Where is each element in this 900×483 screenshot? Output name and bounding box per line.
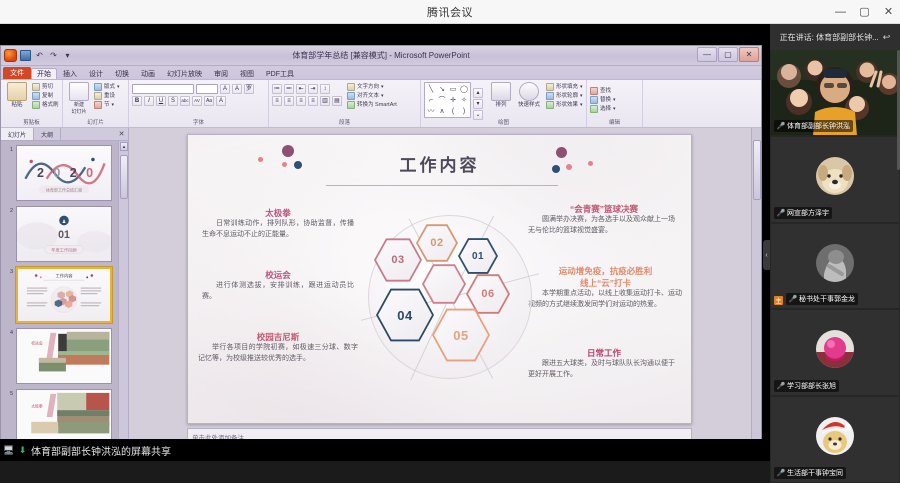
ribbon-group-drawing: ╲ ↘ ▭ ◯ ⌐ ⌒ ✛ ✧ 〰 ∧ ( ) [421,80,587,127]
strikethrough-button[interactable]: abc [180,96,190,106]
svg-text:♟: ♟ [62,219,66,225]
shape-fill-label: 形状填充 [556,83,578,91]
clear-formatting-icon[interactable]: 罗 [244,84,254,94]
copy-icon [32,92,40,100]
powerpoint-titlebar: ↶ ↷ ▾ 体育部学年总结 [兼容模式] - Microsoft PowerPo… [1,46,761,66]
format-painter-button[interactable]: 格式刷 [32,101,59,109]
tab-insert[interactable]: 插入 [57,68,83,79]
ribbon-group-paragraph: ≔ ≕ ⇤ ⇥ ↕ ≡ ≡ ≡ ≡ ▥ [269,80,421,127]
shapes-scroll-up-icon[interactable]: ▴ [473,88,483,98]
cut-label: 剪切 [42,83,53,91]
scrollbar-thumb[interactable] [753,140,761,200]
microphone-muted-icon: 🎤 [777,382,785,390]
save-icon[interactable] [20,50,31,61]
expand-arrow-icon[interactable]: ↩ [883,32,891,43]
download-arrow-icon: ⬇ [17,445,28,456]
list-item[interactable]: 5 太极拳 [5,389,118,445]
find-button[interactable]: 查找 [590,87,616,95]
office-button-icon[interactable] [4,49,17,62]
text-direction-icon [347,83,355,91]
block-heading: 运动增免疫，抗疫必胜利 线上“云”打卡 [528,265,683,289]
reset-label: 重设 [104,92,115,100]
group-label-paragraph: 段落 [269,120,420,127]
text-shadow-button[interactable]: S [168,96,178,106]
participant-tile[interactable]: 🎤 学习部部长张旭 [771,310,899,395]
hexagon-label: 04 [397,308,412,323]
svg-text:2: 2 [37,166,44,180]
new-slide-button[interactable]: 新建 幻灯片 [66,82,92,116]
avatar-image [816,330,854,368]
scroll-up-icon[interactable]: ▴ [120,142,128,151]
participants-sidebar: 正在讲话: 体育部副部长钟... ↩ [770,24,900,483]
group-label-drawing: 绘图 [421,120,586,127]
decor-dot [552,165,560,173]
reset-button[interactable]: 重设 [94,92,120,100]
tab-view[interactable]: 视图 [234,68,260,79]
quick-styles-button[interactable]: 快速样式 [516,82,542,109]
slide-title[interactable]: 工作内容 [188,151,691,176]
shape-elbow-icon[interactable]: ⌐ [426,95,436,105]
svg-text:太极拳: 太极拳 [31,403,43,408]
hexagon-label: 06 [481,288,494,300]
minimize-button[interactable]: — [835,7,846,18]
shape-effects-icon [546,101,554,109]
hexagon-diagram[interactable]: 02 03 [360,205,540,390]
tab-transitions[interactable]: 切换 [109,68,135,79]
window-controls: — ▢ ✕ [835,0,894,24]
copy-label: 复制 [42,92,53,100]
participant-name-chip: 🎤 网宣部方泽宇 [774,207,832,219]
svg-text:工作内容: 工作内容 [55,272,73,279]
align-right-button[interactable]: ≡ [296,96,306,106]
thumbnail-slide-3[interactable]: 工作内容 [16,267,112,323]
microphone-muted-icon: 🎤 [777,469,785,477]
shape-star-icon[interactable]: ✧ [459,95,469,105]
block-body: 日常训练动作，排列队形，协助监督，传播生命不息运动不止的正能量。 [202,219,354,240]
replace-icon [590,96,598,104]
block-body: 跟进五大球类，及时与球队队长沟通以便于更好开展工作。 [528,359,680,380]
find-icon [590,87,598,95]
participant-name: 学习部部长张旭 [787,381,836,391]
participant-name-chip: 🎤 体育部副部长钟洪泓 [774,120,853,132]
tab-review[interactable]: 审阅 [208,68,234,79]
title-underline [326,185,558,186]
block-body: 本学期重点活动，以线上收集运动打卡、运动视频的方式继续激发同学们对运动的热爱。 [528,289,683,310]
thumbnail-slide-4[interactable]: 校运会 [16,328,112,384]
shape-brace-left-icon[interactable]: ( [448,106,458,116]
list-item[interactable]: 4 校运会 [5,328,118,384]
speaking-label: 正在讲话: 体育部副部长钟... [780,32,879,43]
tab-home[interactable]: 开始 [31,68,57,79]
section-chevron-down-icon: ▾ [112,101,115,109]
align-text-chevron-down-icon: ▾ [381,92,384,100]
decor-dot [588,161,593,166]
font-color-button[interactable]: A [216,96,226,106]
shape-curve-icon[interactable]: ⌒ [437,95,447,105]
shared-screen-region: ↶ ↷ ▾ 体育部学年总结 [兼容模式] - Microsoft PowerPo… [0,24,770,461]
svg-text:01: 01 [58,229,70,241]
quick-styles-icon [519,82,539,101]
ribbon-group-font: A A 罗 B I U S abc AV Aa [129,80,269,127]
participant-tile[interactable]: 🎤 生活部干事钟宝同 [771,397,899,482]
shape-effects-chevron-down-icon: ▾ [580,101,583,109]
layout-label: 版式 [104,83,115,91]
group-label-slides: 幻灯片 [63,120,128,127]
shape-brace-right-icon[interactable]: ) [459,106,469,116]
list-item[interactable]: 2 ♟ 01 年度工作回顾 [5,206,118,262]
group-label-clipboard: 剪贴板 [1,120,62,127]
decor-dot [258,157,263,162]
collapse-sidebar-handle[interactable]: ‹ [763,240,770,270]
layout-chevron-down-icon: ▾ [117,83,120,91]
shape-fill-chevron-down-icon: ▾ [580,83,583,91]
scissors-icon [32,83,40,91]
thumbnail-pane-tabs: 幻灯片 大纲 ✕ [1,128,128,141]
shape-fill-icon [546,83,554,91]
ribbon-group-editing: 查找 替换 ▾ 选择 ▾ [587,80,643,127]
block-heading: 校园吉尼斯 [198,331,358,343]
font-family-input[interactable] [132,84,194,94]
tab-slideshow[interactable]: 幻灯片放映 [161,68,208,79]
share-banner-text: 体育部副部长钟洪泓的屏幕共享 [31,443,171,458]
list-item[interactable]: 3 工作内容 [5,267,118,323]
tab-design[interactable]: 设计 [83,68,109,79]
list-item[interactable]: 1 2 0 2 0 [5,145,118,201]
screen-share-banner: 🖥 ⬇ 体育部副部长钟洪泓的屏幕共享 [0,439,770,461]
change-case-button[interactable]: Aa [204,96,214,106]
tab-file[interactable]: 文件 [3,67,31,79]
shape-oval-icon[interactable]: ◯ [459,84,469,94]
decor-dot [294,161,302,169]
replace-label: 替换 [600,96,611,104]
block-heading: 太极拳 [202,207,354,219]
block-heading: 日常工作 [528,347,680,359]
smartart-icon [347,101,355,109]
decor-dot [566,164,572,170]
powerpoint-window: ↶ ↷ ▾ 体育部学年总结 [兼容模式] - Microsoft PowerPo… [0,45,762,461]
text-direction-label: 文字方向 [357,83,379,91]
svg-text:年度工作回顾: 年度工作回顾 [51,246,77,253]
block-body: 进行体测选拔，安排训练，跟进运动员比赛。 [202,281,354,302]
new-slide-icon [69,82,89,101]
line-spacing-button[interactable]: ↕ [320,84,330,94]
justify-button[interactable]: ≡ [308,96,318,106]
svg-text:校运会: 校运会 [31,340,43,345]
shape-outline-button[interactable]: 形状轮廓 ▾ [546,92,583,100]
avatar [816,330,854,368]
close-button[interactable]: ✕ [883,7,894,18]
section-button[interactable]: 节 ▾ [94,101,120,109]
active-speaker-banner: 正在讲话: 体育部副部长钟... ↩ [770,24,900,50]
format-painter-label: 格式刷 [42,101,59,109]
avatar [816,157,854,195]
participant-name-chip: 🎤 生活部干事钟宝同 [774,467,846,479]
thumbnail-slide-2[interactable]: ♟ 01 年度工作回顾 [16,206,112,262]
ppt-minimize-button[interactable]: — [697,47,717,62]
participant-tile[interactable]: 🎤 网宣部方泽宇 [771,137,899,222]
participant-tile[interactable]: 🎤 体育部副部长钟洪泓 [771,50,899,135]
find-label: 查找 [600,87,611,95]
content-block-taijiquan[interactable]: 太极拳 日常训练动作，排列队形，协助监督，传播生命不息运动不止的正能量。 [202,207,354,240]
svg-text:0: 0 [86,166,93,180]
participant-name: 秘书处干事郭金龙 [799,294,855,304]
document-title: 体育部学年总结 [兼容模式] - Microsoft PowerPoint [1,50,761,61]
underline-button[interactable]: U [156,96,166,106]
font-size-input[interactable] [196,84,218,94]
thumbnail-list[interactable]: 1 2 0 2 0 [1,141,128,461]
shape-fill-button[interactable]: 形状填充 ▾ [546,83,583,91]
ppt-close-button[interactable]: ✕ [739,47,759,62]
arrange-icon [491,82,511,101]
avatar [816,417,854,455]
screen-share-icon: 🖥 [3,445,14,456]
svg-text:体育部工作总结汇报: 体育部工作总结汇报 [46,187,82,193]
participant-tile[interactable]: 主 🎤 秘书处干事郭金龙 [771,224,899,309]
reset-icon [94,92,102,100]
maximize-button[interactable]: ▢ [859,7,870,18]
scrollbar-thumb[interactable] [120,155,128,199]
bullets-button[interactable]: ≔ [272,84,282,94]
shape-outline-chevron-down-icon: ▾ [580,92,583,100]
decor-dot [282,162,287,167]
thumbnail-number: 4 [5,328,13,384]
new-slide-label: 新建 幻灯片 [71,102,86,116]
group-label-font: 字体 [129,120,268,127]
tab-slides[interactable]: 幻灯片 [1,128,34,140]
ribbon-group-clipboard: 粘贴 剪切 复制 [1,80,63,127]
italic-button[interactable]: I [144,96,154,106]
slide-editing-area: 工作内容 [129,128,761,461]
convert-smartart-button[interactable]: 转换为 SmartArt [347,101,397,109]
shapes-more-icon[interactable]: ⌄ [473,110,483,120]
shapes-scroll-down-icon[interactable]: ▾ [473,99,483,109]
arrange-label: 排列 [495,102,506,109]
content-block-campus-guinness[interactable]: 校园吉尼斯 举行各项目的学院初赛，如极速三分球、数字记忆等，为校级推送较优秀的选… [198,331,358,364]
tab-pdf-tools[interactable]: PDF工具 [260,68,300,79]
tab-animations[interactable]: 动画 [135,68,161,79]
participant-name: 网宣部方泽宇 [787,208,829,218]
shape-freeform-icon[interactable]: 〰 [426,106,436,116]
character-spacing-button[interactable]: AV [192,96,202,106]
group-label-editing: 编辑 [587,120,642,127]
svg-text:2: 2 [70,166,77,180]
app-titlebar: 腾讯会议 — ▢ ✕ [0,0,900,24]
content-block-basketball-final[interactable]: “会青赛”篮球决赛 圆满举办决赛，为各选手以及观众献上一场无与伦比的篮球视觉盛宴… [528,203,680,236]
section-icon [94,101,102,109]
select-icon [590,105,598,113]
slide-thumbnail-pane: 幻灯片 大纲 ✕ 1 2 [1,128,129,461]
thumbnail-number: 5 [5,389,13,445]
copy-button[interactable]: 复制 [32,92,59,100]
thumbnail-scrollbar[interactable]: ▴ ▾ [118,141,128,461]
hexagon-label: 01 [472,251,484,262]
participant-tiles: 🎤 体育部副部长钟洪泓 [770,50,900,483]
ribbon: 粘贴 剪切 复制 [1,80,761,128]
layout-button[interactable]: 版式 ▾ [94,83,120,91]
shrink-font-icon[interactable]: A [232,84,242,94]
section-label: 节 [104,101,110,109]
cut-button[interactable]: 剪切 [32,83,59,91]
text-direction-button[interactable]: 文字方向 ▾ [347,83,397,91]
hexagon-label: 05 [453,328,468,343]
shapes-gallery[interactable]: ╲ ↘ ▭ ◯ ⌐ ⌒ ✛ ✧ 〰 ∧ ( ) [424,82,471,118]
thumbnail-number: 1 [5,145,13,201]
thumbnail-slide-1[interactable]: 2 0 2 0 体育部工作总结汇报 [16,145,112,201]
undo-icon[interactable]: ↶ [34,50,45,61]
hexagon-label: 02 [430,237,443,249]
shape-effects-button[interactable]: 形状效果 ▾ [546,101,583,109]
thumbnail-slide-5[interactable]: 太极拳 [16,389,112,445]
shape-effects-label: 形状效果 [556,101,578,109]
thumbnail-number: 3 [5,267,13,323]
quick-access-toolbar[interactable]: ↶ ↷ ▾ [1,49,73,62]
paste-icon [7,82,27,101]
svg-text:0: 0 [53,166,60,180]
paste-button[interactable]: 粘贴 [4,82,30,109]
paste-label: 粘贴 [11,102,22,109]
participant-name: 体育部副部长钟洪泓 [787,121,850,131]
app-title: 腾讯会议 [427,4,473,20]
block-heading: 校运会 [202,269,354,281]
distributed-button[interactable]: ▤ [332,96,342,106]
numbering-button[interactable]: ≕ [284,84,294,94]
ribbon-tabs: 文件 开始 插入 设计 切换 动画 幻灯片放映 审阅 视图 PDF工具 [1,66,761,80]
decor-dot [282,145,294,157]
text-direction-chevron-down-icon: ▾ [381,83,384,91]
thumbnail-number: 2 [5,206,13,262]
columns-button[interactable]: ▥ [320,96,330,106]
select-button[interactable]: 选择 ▾ [590,105,616,113]
replace-button[interactable]: 替换 ▾ [590,96,616,104]
shape-arrow-icon[interactable]: ↘ [437,84,447,94]
bold-button[interactable]: B [132,96,142,106]
close-thumbnail-pane-icon[interactable]: ✕ [115,128,128,140]
select-label: 选择 [600,105,611,113]
align-left-button[interactable]: ≡ [272,96,282,106]
align-text-button[interactable]: 对齐文本 ▾ [347,92,397,100]
decor-dot [556,147,567,158]
tencent-meeting-window: 腾讯会议 — ▢ ✕ ↶ ↷ ▾ 体育部学年总结 [兼容模式] - Micros… [0,0,900,483]
brush-icon [32,101,40,109]
shape-outline-label: 形状轮廓 [556,92,578,100]
hexagon-label: 03 [391,254,404,266]
shape-rect-icon[interactable]: ▭ [448,84,458,94]
content-block-daily-work[interactable]: 日常工作 跟进五大球类，及时与球队队长沟通以便于更好开展工作。 [528,347,680,380]
content-block-sports-meet[interactable]: 校运会 进行体测选拔，安排训练，跟进运动员比赛。 [202,269,354,302]
smartart-label: 转换为 SmartArt [357,101,397,109]
participant-name-chip: 🎤 学习部部长张旭 [774,380,839,392]
arrange-button[interactable]: 排列 [488,82,514,109]
align-text-icon [347,92,355,100]
current-slide[interactable]: 工作内容 [187,134,692,424]
shape-plus-icon[interactable]: ✛ [448,95,458,105]
host-badge: 主 [774,296,783,305]
tab-outline[interactable]: 大纲 [34,128,61,140]
shape-outline-icon [546,92,554,100]
participant-name: 生活部干事钟宝同 [787,468,843,478]
grow-font-icon[interactable]: A [220,84,230,94]
block-body: 举行各项目的学院初赛，如极速三分球、数字记忆等，为校级推送较优秀的选手。 [198,343,358,364]
powerpoint-window-controls: — ▢ ✕ [697,47,759,62]
redo-icon[interactable]: ↷ [48,50,59,61]
customize-qat-icon[interactable]: ▾ [62,50,73,61]
avatar [816,244,854,282]
decrease-indent-button[interactable]: ⇤ [296,84,306,94]
microphone-on-icon: 🎤 [777,122,785,130]
block-body: 圆满举办决赛，为各选手以及观众献上一场无与伦比的篮球视觉盛宴。 [528,215,680,236]
participant-name-chip: 🎤 秘书处干事郭金龙 [786,293,858,305]
align-center-button[interactable]: ≡ [284,96,294,106]
shape-line-icon[interactable]: ╲ [426,84,436,94]
avatar-image [816,244,854,282]
select-chevron-down-icon: ▾ [613,105,616,113]
powerpoint-workspace: 幻灯片 大纲 ✕ 1 2 [1,128,761,461]
avatar-image [816,157,854,195]
avatar-image [816,417,854,455]
replace-chevron-down-icon: ▾ [613,96,616,104]
shape-angle-icon[interactable]: ∧ [437,106,447,116]
slide-vertical-scrollbar[interactable] [751,128,761,461]
ppt-restore-button[interactable]: ▢ [718,47,738,62]
microphone-muted-icon: 🎤 [777,209,785,217]
ribbon-empty-space [643,80,761,127]
block-heading: “会青赛”篮球决赛 [528,203,680,215]
microphone-muted-icon: 🎤 [789,295,797,303]
quick-styles-label: 快速样式 [518,102,540,109]
ribbon-group-slides: 新建 幻灯片 版式 ▾ 重设 [63,80,129,127]
content-block-cloud-checkin[interactable]: 运动增免疫，抗疫必胜利 线上“云”打卡 本学期重点活动，以线上收集运动打卡、运动… [528,265,683,310]
layout-icon [94,83,102,91]
align-text-label: 对齐文本 [357,92,379,100]
increase-indent-button[interactable]: ⇥ [308,84,318,94]
